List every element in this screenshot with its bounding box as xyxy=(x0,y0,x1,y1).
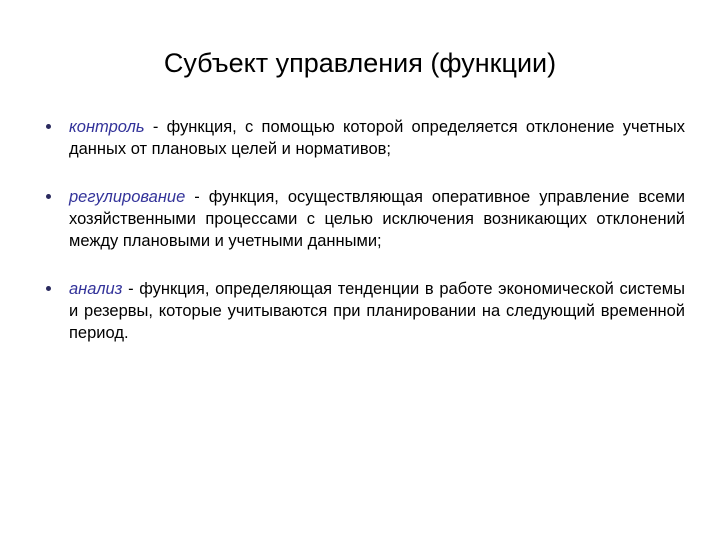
list-item-term: анализ xyxy=(69,280,122,298)
list-item-text: - функция, определяющая тенденции в рабо… xyxy=(69,280,685,342)
bullet-dot-icon xyxy=(46,194,51,199)
list-item-term: контроль xyxy=(69,118,145,136)
list-item: контроль - функция, с помощью которой оп… xyxy=(40,116,685,160)
list-item: анализ - функция, определяющая тенденции… xyxy=(40,278,685,344)
list-item-text: - функция, с помощью которой определяетс… xyxy=(69,118,685,158)
bullet-dot-icon xyxy=(46,286,51,291)
bullet-dot-icon xyxy=(46,124,51,129)
slide-canvas: Субъект управления (функции) контроль - … xyxy=(0,0,720,540)
bullet-list: контроль - функция, с помощью которой оп… xyxy=(40,116,685,344)
list-item: регулирование - функция, осуществляющая … xyxy=(40,186,685,252)
page-title: Субъект управления (функции) xyxy=(40,47,680,79)
list-item-term: регулирование xyxy=(69,188,185,206)
